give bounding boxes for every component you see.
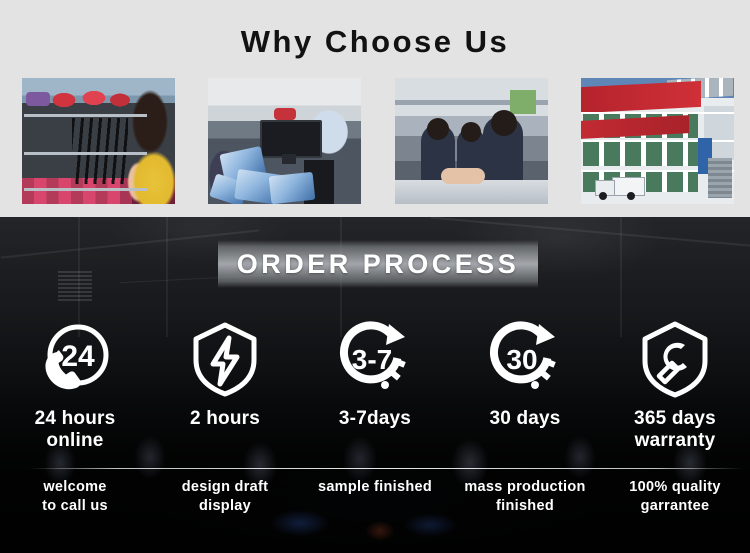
step-sublabel: welcome to call us	[2, 478, 148, 516]
step-2-hours[interactable]: 2 hours	[150, 318, 300, 553]
worker-head	[427, 118, 449, 140]
step-sublabel-cell: welcome to call us	[0, 478, 150, 516]
rack-items-red	[50, 88, 132, 110]
step-label: 365 days warranty	[600, 408, 750, 452]
truck-wheel	[599, 192, 607, 200]
rack-item-purple	[26, 92, 50, 106]
step-sublabels-row: welcome to call us design draft display …	[0, 478, 750, 516]
order-process-steps: 24 24 hours online 2 hours	[0, 318, 750, 553]
building-banner-red	[581, 81, 701, 113]
monitor	[260, 120, 322, 158]
wall-panel	[510, 90, 536, 114]
step-sublabel: 100% quality garrantee	[602, 478, 748, 516]
step-sublabel: mass production finished	[452, 478, 598, 516]
shelf-product-red	[274, 108, 296, 120]
wall-vent	[58, 271, 92, 301]
icon-text-3-7: 3-7	[352, 344, 392, 375]
why-choose-us-section: Why Choose Us	[0, 0, 750, 217]
photo-warehouse-rack	[22, 78, 175, 204]
icon-text-24: 24	[61, 340, 95, 373]
rack-hanging-cords	[72, 118, 128, 184]
photo-assembly-line-image	[395, 78, 548, 204]
step-sublabel: design draft display	[152, 478, 298, 516]
step-label: 3-7days	[300, 408, 450, 430]
photo-assembly-line	[395, 78, 548, 204]
shipping-container	[708, 158, 732, 198]
step-sublabel-cell: design draft display	[150, 478, 300, 516]
step-sublabel: sample finished	[302, 478, 448, 516]
step-label: 2 hours	[150, 408, 300, 430]
step-label: 24 hours online	[0, 408, 150, 452]
step-365-days-warranty[interactable]: 365 days warranty	[600, 318, 750, 553]
promo-banner-page: Why Choose Us	[0, 0, 750, 553]
steps-divider	[30, 468, 742, 469]
rotate-3-7-days-icon: 3-7	[332, 318, 418, 400]
shield-wrench-icon	[632, 318, 718, 400]
photo-packing-station	[208, 78, 361, 204]
step-24-hours-online[interactable]: 24 24 hours online	[0, 318, 150, 553]
delivery-truck	[595, 178, 643, 200]
rack-shelf	[24, 114, 147, 117]
rack-shelf	[24, 152, 147, 155]
phone-24-hours-icon: 24	[32, 318, 118, 400]
worker-head	[491, 110, 517, 136]
photo-factory-exterior	[581, 78, 734, 204]
step-sublabel-cell: mass production finished	[450, 478, 600, 516]
packaged-product	[269, 172, 316, 204]
building-window-row	[583, 142, 698, 166]
photo-factory-exterior-image	[581, 78, 734, 204]
step-30-days[interactable]: 30 30 days	[450, 318, 600, 553]
worker-head	[461, 122, 481, 142]
rack-shelf	[24, 188, 147, 191]
worker-hands	[441, 168, 485, 184]
photo-warehouse-rack-image	[22, 78, 175, 204]
shield-lightning-icon	[182, 318, 268, 400]
order-process-title: ORDER PROCESS	[237, 249, 520, 280]
photo-strip	[22, 78, 734, 204]
truck-wheel	[627, 192, 635, 200]
step-sublabel-cell: sample finished	[300, 478, 450, 516]
rotate-30-days-icon: 30	[482, 318, 568, 400]
photo-packing-station-image	[208, 78, 361, 204]
order-process-title-bar: ORDER PROCESS	[218, 240, 538, 288]
icon-text-30: 30	[506, 344, 537, 375]
step-label: 30 days	[450, 408, 600, 430]
step-3-7-days[interactable]: 3-7 3-7days	[300, 318, 450, 553]
monitor-stand	[282, 154, 296, 164]
page-title: Why Choose Us	[0, 22, 750, 62]
step-sublabel-cell: 100% quality garrantee	[600, 478, 750, 516]
